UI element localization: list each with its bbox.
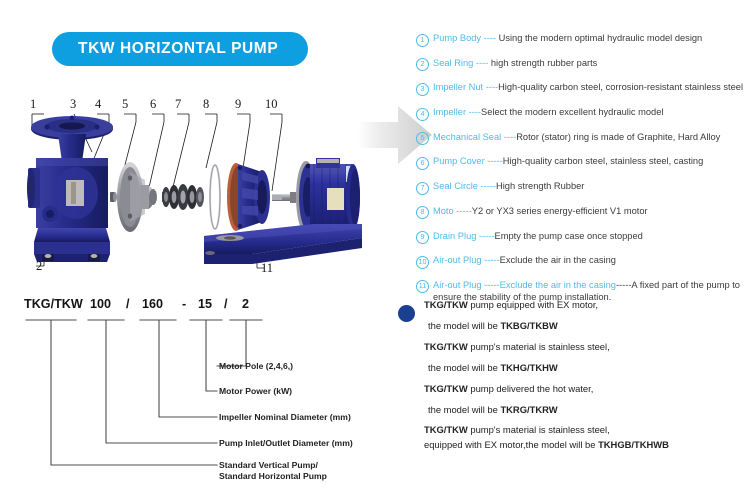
legend-sep-2: ---- — [473, 58, 491, 68]
legend-number-4: 4 — [416, 108, 429, 121]
legend-sep-7: ----- — [478, 181, 496, 191]
legend-part-name-7: Seal Circle — [433, 181, 478, 191]
legend-sep-1: ---- — [481, 33, 499, 43]
legend-desc-1: Using the modern optimal hydraulic model… — [499, 33, 703, 43]
legend-sep-10: ----- — [482, 255, 500, 265]
nomenclature-label-motor-pole: Motor Pole (2,4,6,) — [219, 361, 293, 372]
note-7-text: pump's material is stainless steel, — [468, 424, 610, 435]
legend-part-name-5: Mechanical Seal — [433, 132, 501, 142]
callout-number-6: 6 — [150, 98, 156, 111]
model-code-slash-2: / — [224, 298, 228, 311]
note-2-model: TKBG/TKBW — [500, 320, 557, 331]
note-line-6: the model will be TKRG/TKRW — [398, 405, 748, 414]
legend-item-6: 6 Pump Cover -----High-quality carbon st… — [416, 156, 752, 170]
legend-sep-6: ----- — [485, 156, 503, 166]
legend-part-name-2: Seal Ring — [433, 58, 473, 68]
legend-desc-4: Select the modern excellent hydraulic mo… — [481, 107, 663, 117]
note-4-model: TKHG/TKHW — [500, 362, 557, 373]
nomenclature-label-pump-type-line1: Standard Vertical Pump/ — [219, 460, 318, 471]
note-1-prefix: TKG/TKW — [424, 299, 468, 310]
legend-item-4: 4 Impeller ----Select the modern excelle… — [416, 107, 752, 121]
model-code-slash-1: / — [126, 298, 130, 311]
legend-part-name-3: Impeller Nut — [433, 82, 483, 92]
legend-item-7: 7 Seal Circle -----High strength Rubber — [416, 181, 752, 195]
nomenclature-label-motor-power: Motor Power (kW) — [219, 386, 292, 397]
legend-item-3: 3 Impeller Nut ----High-quality carbon s… — [416, 82, 752, 96]
legend-sep-3: ---- — [483, 82, 498, 92]
note-2-text: the model will be — [428, 320, 500, 331]
parts-legend-list: 1 Pump Body ---- Using the modern optima… — [416, 33, 752, 304]
legend-number-2: 2 — [416, 58, 429, 71]
legend-part-name-4: Impeller — [433, 107, 466, 117]
legend-part-name-9: Drain Plug — [433, 231, 476, 241]
callout-number-10: 10 — [265, 98, 278, 111]
legend-number-10: 10 — [416, 256, 429, 269]
legend-item-1: 1 Pump Body ---- Using the modern optima… — [416, 33, 752, 47]
note-line-7: TKG/TKW pump's material is stainless ste… — [398, 425, 748, 434]
legend-number-1: 1 — [416, 34, 429, 47]
note-5-text: pump delivered the hot water, — [468, 383, 594, 394]
legend-part-name-10: Air-out Plug — [433, 255, 482, 265]
model-code-motor-pole: 2 — [242, 298, 249, 311]
legend-item-2: 2 Seal Ring ---- high strength rubber pa… — [416, 58, 752, 72]
nomenclature-label-pump-type-line2: Standard Horizontal Pump — [219, 471, 327, 482]
model-code-dash: - — [182, 298, 186, 311]
legend-sep-5: ---- — [501, 132, 516, 142]
note-1-text: pump equipped with EX motor, — [468, 299, 598, 310]
page-title-banner: TKW HORIZONTAL PUMP — [52, 32, 308, 66]
note-line-3: TKG/TKW pump's material is stainless ste… — [398, 342, 748, 351]
legend-number-3: 3 — [416, 83, 429, 96]
legend-desc-2: high strength rubber parts — [491, 58, 597, 68]
page-title: TKW HORIZONTAL PUMP — [52, 40, 278, 58]
note-8-model: TKHGB/TKHWB — [598, 439, 669, 450]
legend-item-9: 9 Drain Plug -----Empty the pump case on… — [416, 231, 752, 245]
legend-desc-3: High-quality carbon steel, corrosion-res… — [498, 82, 743, 92]
note-5-prefix: TKG/TKW — [424, 383, 468, 394]
legend-number-8: 8 — [416, 206, 429, 219]
pump-product-sheet: TKW HORIZONTAL PUMP — [0, 0, 756, 500]
legend-desc-10: Exclude the air in the casing — [500, 255, 616, 265]
legend-desc-11: A fixed part of the pump to — [631, 280, 740, 290]
legend-desc-9: Empty the pump case once stopped — [495, 231, 643, 241]
legend-desc-7: High strength Rubber — [496, 181, 584, 191]
callout-number-11: 11 — [261, 262, 273, 275]
nomenclature-label-impeller-diameter: Impeller Nominal Diameter (mm) — [219, 412, 351, 423]
legend-sep2-11: ----- — [616, 280, 631, 290]
legend-desc-8: Y2 or YX3 series energy-efficient V1 mot… — [472, 206, 648, 216]
note-4-text: the model will be — [428, 362, 500, 373]
legend-number-7: 7 — [416, 182, 429, 195]
legend-number-5: 5 — [416, 132, 429, 145]
legend-part-name-1: Pump Body — [433, 33, 481, 43]
legend-sep-9: ----- — [476, 231, 494, 241]
callout-number-3: 3 — [70, 98, 76, 111]
note-7-prefix: TKG/TKW — [424, 424, 468, 435]
legend-item-8: 8 Moto -----Y2 or YX3 series energy-effi… — [416, 206, 752, 220]
note-line-5: TKG/TKW pump delivered the hot water, — [398, 384, 748, 393]
note-line-4: the model will be TKHG/TKHW — [398, 363, 748, 372]
legend-item-10: 10 Air-out Plug -----Exclude the air in … — [416, 255, 752, 269]
callout-number-4: 4 — [95, 98, 101, 111]
model-variants-notes: TKG/TKW pump equipped with EX motor, the… — [398, 300, 748, 449]
legend-desc-6: High-quality carbon steel, stainless ste… — [503, 156, 704, 166]
callout-number-2: 2 — [36, 260, 42, 273]
bullet-point-icon — [398, 305, 415, 322]
legend-sep-8: ----- — [454, 206, 472, 216]
legend-number-11: 11 — [416, 280, 429, 293]
legend-number-6: 6 — [416, 157, 429, 170]
model-code-impeller-diameter: 160 — [142, 298, 163, 311]
model-code-inlet-diameter: 100 — [90, 298, 111, 311]
legend-part-name-11: Air-out Plug — [433, 280, 482, 290]
legend-part-name-8: Moto — [433, 206, 454, 216]
note-3-prefix: TKG/TKW — [424, 341, 468, 352]
callout-number-1: 1 — [30, 98, 36, 111]
legend-desc-5: Rotor (stator) ring is made of Graphite,… — [516, 132, 720, 142]
note-line-8: equipped with EX motor,the model will be… — [398, 440, 748, 449]
legend-part-name-6: Pump Cover — [433, 156, 485, 166]
note-8-text: equipped with EX motor,the model will be — [424, 439, 598, 450]
note-3-text: pump's material is stainless steel, — [468, 341, 610, 352]
note-line-2: the model will be TKBG/TKBW — [398, 321, 748, 330]
legend-sep-4: ---- — [466, 107, 481, 117]
legend-item-5: 5 Mechanical Seal ----Rotor (stator) rin… — [416, 132, 752, 146]
legend-sep-11: ----- — [482, 280, 500, 290]
note-6-model: TKRG/TKRW — [500, 404, 557, 415]
model-code-motor-power: 15 — [198, 298, 212, 311]
legend-blue-desc-11: Exclude the air in the casing — [500, 280, 616, 290]
model-code-prefix: TKG/TKW — [24, 298, 83, 311]
model-nomenclature-diagram: TKG/TKW 100 / 160 - 15 / 2 Motor Pole (2… — [14, 296, 390, 496]
note-6-text: the model will be — [428, 404, 500, 415]
nomenclature-label-inlet-diameter: Pump Inlet/Outlet Diameter (mm) — [219, 438, 353, 449]
note-line-1: TKG/TKW pump equipped with EX motor, — [398, 300, 748, 309]
callout-number-7: 7 — [175, 98, 181, 111]
legend-number-9: 9 — [416, 231, 429, 244]
callout-number-8: 8 — [203, 98, 209, 111]
callout-number-5: 5 — [122, 98, 128, 111]
callout-number-9: 9 — [235, 98, 241, 111]
exploded-pump-illustration: 1 3 4 5 6 7 8 9 10 2 11 — [14, 96, 364, 281]
